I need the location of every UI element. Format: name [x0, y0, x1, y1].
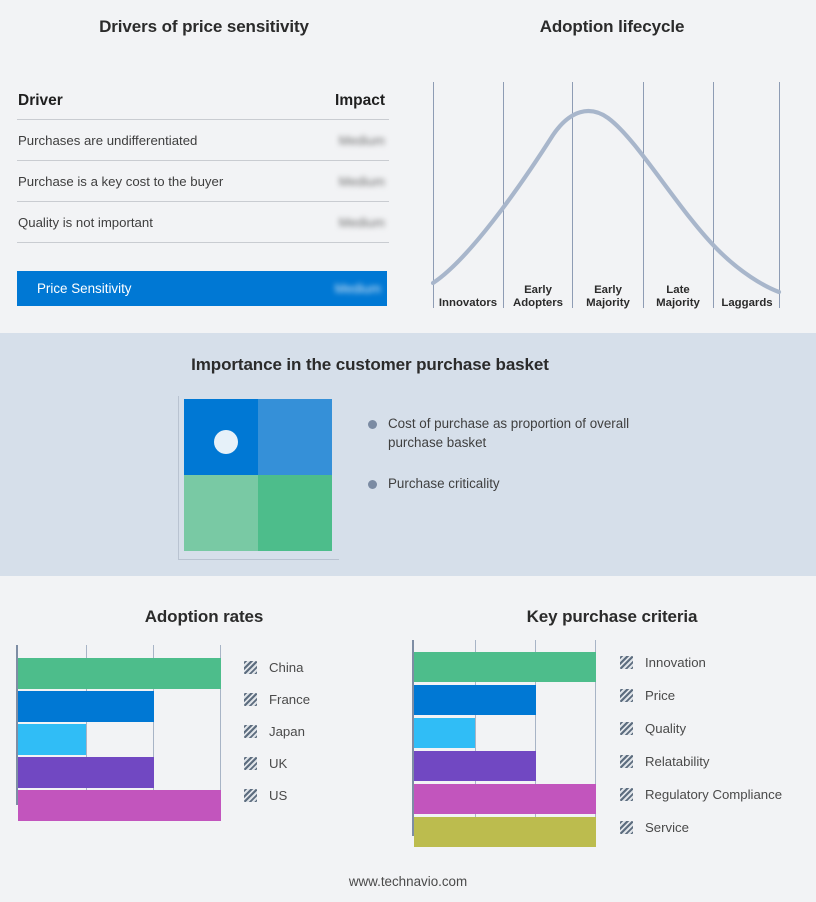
lifecycle-stage-label-line2: Majority [656, 297, 700, 309]
legend-item: China [244, 651, 394, 683]
panel-adoption-rates: Adoption rates China France Ja [0, 576, 408, 902]
lifecycle-stage-label-line2: Adopters [513, 297, 563, 309]
legend-item: Quality [620, 712, 816, 745]
key-purchase-criteria-chart: Innovation Price Quality Relatability Re… [412, 640, 816, 836]
legend-item: Price [620, 679, 816, 712]
legend-label: Regulatory Compliance [645, 787, 782, 802]
lifecycle-stage-label: Laggards [721, 297, 772, 309]
legend-item: Purchase criticality [368, 474, 698, 493]
lifecycle-stage-label: Innovators [439, 297, 497, 309]
legend-label: Quality [645, 721, 686, 736]
pattern-swatch-icon [620, 689, 633, 702]
bar-innovation [414, 652, 596, 682]
legend-label: Innovation [645, 655, 706, 670]
impact-value: Medium [339, 133, 385, 148]
legend-item: Relatability [620, 745, 816, 778]
legend-item: UK [244, 747, 394, 779]
lifecycle-title: Adoption lifecycle [408, 17, 816, 37]
legend-item: Cost of purchase as proportion of overal… [368, 414, 698, 452]
adoption-rates-title: Adoption rates [0, 607, 408, 627]
lifecycle-stage-label-line2: Majority [586, 297, 630, 309]
legend-item: Japan [244, 715, 394, 747]
price-sensitivity-highlight-row: Price Sensitivity Medium [17, 271, 387, 306]
bar-japan [18, 724, 86, 755]
bar-uk [18, 757, 154, 788]
bullet-icon [368, 420, 377, 429]
panel-adoption-lifecycle: Adoption lifecycle Innovators Early Adop… [408, 0, 816, 333]
column-header-driver: Driver [18, 92, 63, 110]
quadrant-cell-top-right [258, 399, 332, 475]
pattern-swatch-icon [620, 755, 633, 768]
quadrant-y-axis [178, 396, 179, 560]
legend-item: France [244, 683, 394, 715]
pattern-swatch-icon [244, 757, 257, 770]
quadrant-position-marker [214, 430, 238, 454]
legend-label: China [269, 660, 303, 675]
pattern-swatch-icon [244, 789, 257, 802]
legend-item: Innovation [620, 646, 816, 679]
legend-label: Purchase criticality [388, 474, 500, 493]
panel-importance-purchase-basket: Importance in the customer purchase bask… [0, 333, 816, 576]
table-row: Purchases are undifferentiated Medium [17, 120, 389, 161]
bar-service [414, 817, 596, 847]
legend-label: US [269, 788, 287, 803]
impact-value: Medium [339, 174, 385, 189]
impact-value: Medium [335, 281, 381, 296]
driver-label: Purchase is a key cost to the buyer [18, 174, 223, 189]
lifecycle-bell-curve [433, 111, 779, 292]
adoption-rates-plot [16, 645, 221, 805]
pattern-swatch-icon [620, 656, 633, 669]
drivers-title: Drivers of price sensitivity [0, 17, 408, 37]
adoption-lifecycle-chart: Innovators Early Adopters Early Majority… [408, 60, 816, 320]
key-purchase-criteria-plot [412, 640, 602, 836]
legend-label: Price [645, 688, 675, 703]
lifecycle-stage-label-line1: Late [666, 284, 689, 296]
importance-title: Importance in the customer purchase bask… [0, 355, 740, 375]
key-purchase-criteria-title: Key purchase criteria [408, 607, 816, 627]
quadrant-cell-bottom-left [184, 475, 258, 551]
bar-france [18, 691, 154, 722]
bar-us [18, 790, 221, 821]
legend-item: US [244, 779, 394, 811]
panel-drivers-of-price-sensitivity: Drivers of price sensitivity Driver Impa… [0, 0, 408, 333]
legend-label: Cost of purchase as proportion of overal… [388, 414, 656, 452]
impact-value: Medium [339, 215, 385, 230]
quadrant-cell-bottom-right [258, 475, 332, 551]
adoption-rates-chart: China France Japan UK US [16, 645, 396, 805]
pattern-swatch-icon [244, 693, 257, 706]
legend-label: France [269, 692, 310, 707]
bullet-icon [368, 480, 377, 489]
quadrant-grid [184, 399, 332, 551]
importance-legend: Cost of purchase as proportion of overal… [368, 414, 698, 515]
bar-china [18, 658, 221, 689]
drivers-table: Driver Impact Purchases are undifferenti… [17, 92, 389, 243]
pattern-swatch-icon [620, 788, 633, 801]
footer-website: www.technavio.com [0, 874, 816, 889]
column-header-impact: Impact [335, 92, 385, 110]
bar-price [414, 685, 536, 715]
lifecycle-stage-label-line1: Early [524, 284, 553, 296]
pattern-swatch-icon [620, 821, 633, 834]
pattern-swatch-icon [620, 722, 633, 735]
legend-label: Service [645, 820, 689, 835]
table-row: Purchase is a key cost to the buyer Medi… [17, 161, 389, 202]
legend-item: Service [620, 811, 816, 844]
driver-label: Purchases are undifferentiated [18, 133, 197, 148]
table-row: Quality is not important Medium [17, 202, 389, 243]
legend-item: Regulatory Compliance [620, 778, 816, 811]
drivers-table-header: Driver Impact [17, 92, 389, 120]
quadrant-x-axis [178, 559, 339, 560]
driver-label: Price Sensitivity [37, 281, 132, 296]
pattern-swatch-icon [244, 661, 257, 674]
bar-relatability [414, 751, 536, 781]
adoption-rates-legend: China France Japan UK US [244, 651, 394, 811]
driver-label: Quality is not important [18, 215, 153, 230]
legend-label: UK [269, 756, 287, 771]
legend-label: Japan [269, 724, 305, 739]
lifecycle-stage-label-line1: Early [594, 284, 623, 296]
bar-regulatory-compliance [414, 784, 596, 814]
pattern-swatch-icon [244, 725, 257, 738]
key-purchase-criteria-legend: Innovation Price Quality Relatability Re… [620, 646, 816, 844]
panel-key-purchase-criteria: Key purchase criteria Innovation Price [408, 576, 816, 902]
legend-label: Relatability [645, 754, 710, 769]
bar-quality [414, 718, 475, 748]
